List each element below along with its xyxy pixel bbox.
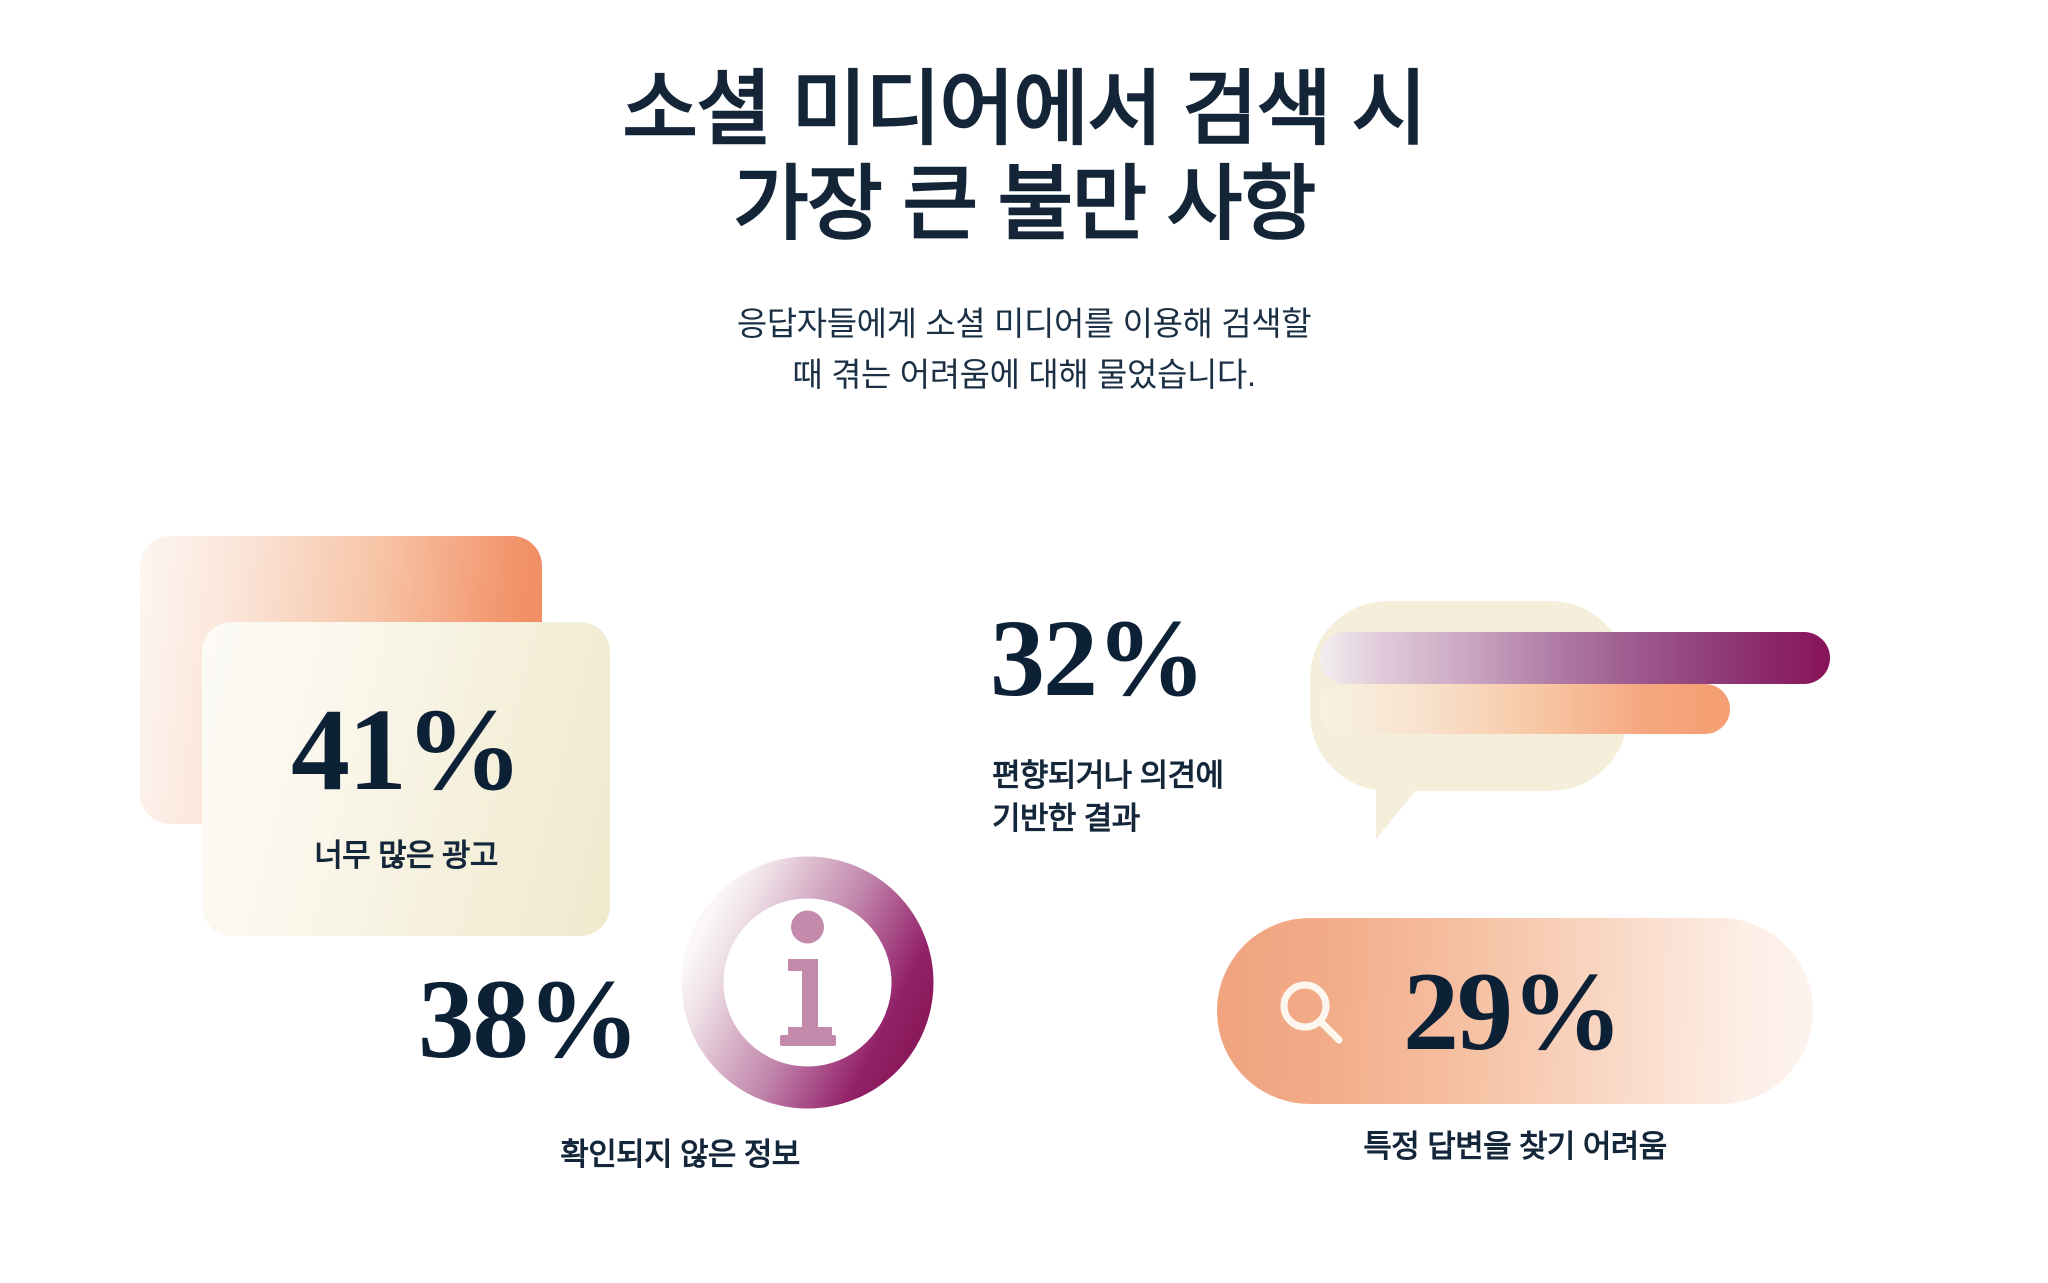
stat-card-unverified: 38% 확인되지 않은 정보 bbox=[410, 855, 970, 1185]
infographic-header: 소셜 미디어에서 검색 시 가장 큰 불만 사항 응답자들에게 소셜 미디어를 … bbox=[0, 0, 2048, 401]
stat-unverified-caption: 확인되지 않은 정보 bbox=[410, 1110, 950, 1177]
stat-unverified-value: 38% bbox=[418, 963, 638, 1076]
stat-ads-value: 41% bbox=[291, 691, 521, 809]
stat-answers-value: 29% bbox=[1403, 956, 1621, 1068]
stat-card-answers: 29% 특정 답변을 찾기 어려움 bbox=[1205, 918, 1865, 1188]
speech-bubble-bar-orange bbox=[1320, 684, 1730, 734]
speech-bubble-bar-purple bbox=[1320, 632, 1830, 684]
stat-answers-caption: 특정 답변을 찾기 어려움 bbox=[1205, 1114, 1825, 1169]
search-icon bbox=[1275, 976, 1349, 1050]
info-letter-i bbox=[780, 911, 836, 1047]
info-circle-icon bbox=[680, 855, 935, 1110]
stat-bias-caption: 편향되거나 의견에 기반한 결과 bbox=[992, 755, 1223, 841]
page-subtitle: 응답자들에게 소셜 미디어를 이용해 검색할 때 겪는 어려움에 대해 물었습니… bbox=[0, 252, 2048, 400]
stat-card-bias: 32% 편향되거나 의견에 기반한 결과 bbox=[990, 585, 1810, 905]
speech-bubble-tail-icon bbox=[1376, 783, 1422, 839]
stat-bias-value: 32% bbox=[990, 603, 1204, 713]
page-title: 소셜 미디어에서 검색 시 가장 큰 불만 사항 bbox=[0, 0, 2048, 252]
